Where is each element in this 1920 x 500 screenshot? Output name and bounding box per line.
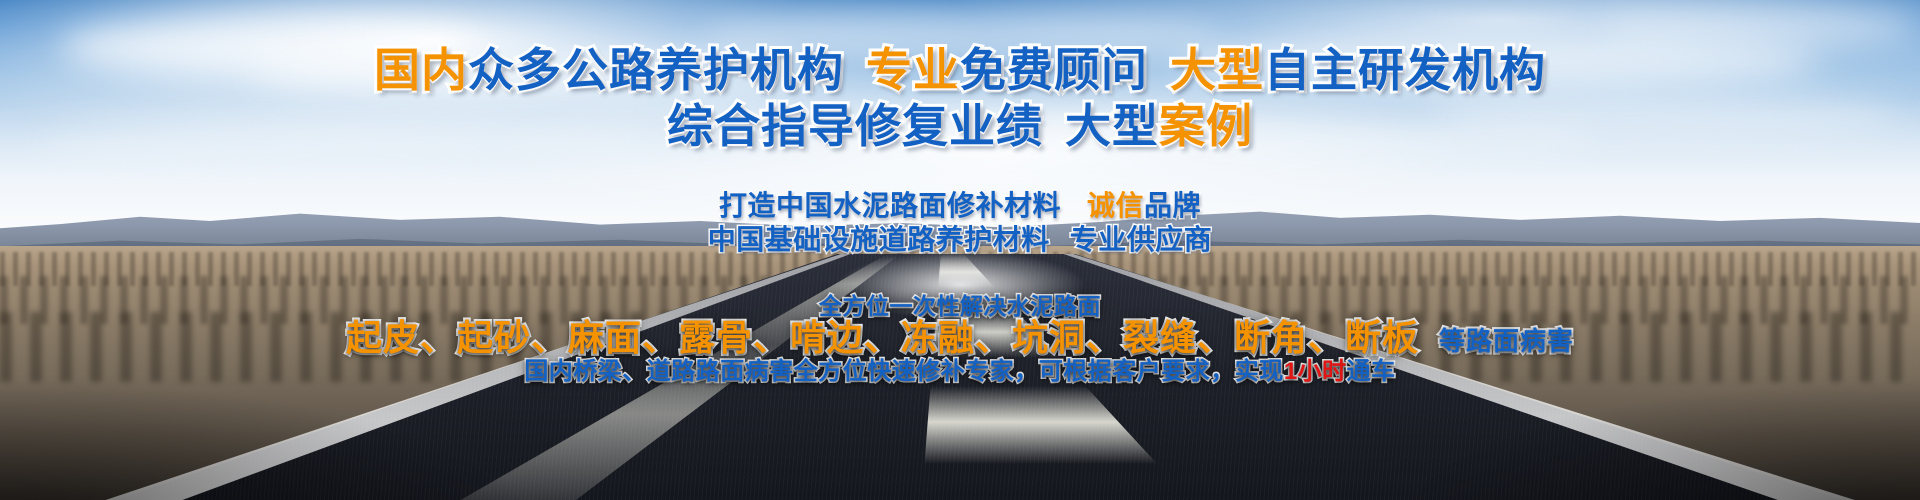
subhead-line-2: 中国基础设施道路养护材料专业供应商 xyxy=(0,224,1920,256)
headline-l1-part-6: 自主研发机构 xyxy=(1264,44,1546,96)
headline-l2-part-1: 综合指导修复业绩 xyxy=(667,100,1043,152)
bottom-line-1: 全方位一次性解决水泥路面 xyxy=(0,293,1920,319)
subhead-l1-part-3: 品牌 xyxy=(1144,190,1201,221)
subhead-l1-part-2: 诚信 xyxy=(1087,190,1144,221)
cloud-shape xyxy=(1600,8,1920,44)
bottom-l3-highlight: 1小时 xyxy=(1284,358,1347,385)
headline-l1-part-1: 国内 xyxy=(374,44,468,96)
defect-list-text: 起皮、起砂、麻面、露骨、啃边、冻融、坑洞、裂缝、断角、断板 xyxy=(346,317,1419,358)
subhead-l2-part-1: 中国基础设施道路养护材料 xyxy=(708,224,1050,255)
bottom-l3-part-3: 通车 xyxy=(1347,358,1396,385)
headline-l1-part-5: 大型 xyxy=(1170,44,1264,96)
bottom-line-3: 国内桥梁、道路路面病害全方位快速修补专家，可根据客户要求，实现1小时通车 xyxy=(0,358,1920,386)
defect-list-suffix: 等路面病害 xyxy=(1439,326,1574,356)
headline-l2-part-2: 大型 xyxy=(1065,100,1159,152)
headline-line-2: 综合指导修复业绩大型案例 xyxy=(0,100,1920,152)
bottom-line-2-defect-list: 起皮、起砂、麻面、露骨、啃边、冻融、坑洞、裂缝、断角、断板等路面病害 xyxy=(0,318,1920,361)
headline-line-1: 国内众多公路养护机构专业免费顾问大型自主研发机构 xyxy=(0,44,1920,96)
headline-l2-part-3: 案例 xyxy=(1159,100,1253,152)
bottom-l1-text: 全方位一次性解决水泥路面 xyxy=(819,293,1101,319)
subhead-line-1: 打造中国水泥路面修补材料诚信品牌 xyxy=(0,190,1920,222)
headline-l1-part-3: 专业 xyxy=(866,44,960,96)
bottom-l3-part-1: 国内桥梁、道路路面病害全方位快速修补专家，可根据客户要求，实现 xyxy=(524,358,1284,385)
promo-banner: 国内众多公路养护机构专业免费顾问大型自主研发机构 综合指导修复业绩大型案例 打造… xyxy=(0,0,1920,500)
subhead-l1-part-1: 打造中国水泥路面修补材料 xyxy=(719,190,1061,221)
subhead-l2-part-2: 专业供应商 xyxy=(1070,224,1213,255)
headline-l1-part-4: 免费顾问 xyxy=(960,44,1148,96)
headline-l1-part-2: 众多公路养护机构 xyxy=(468,44,844,96)
